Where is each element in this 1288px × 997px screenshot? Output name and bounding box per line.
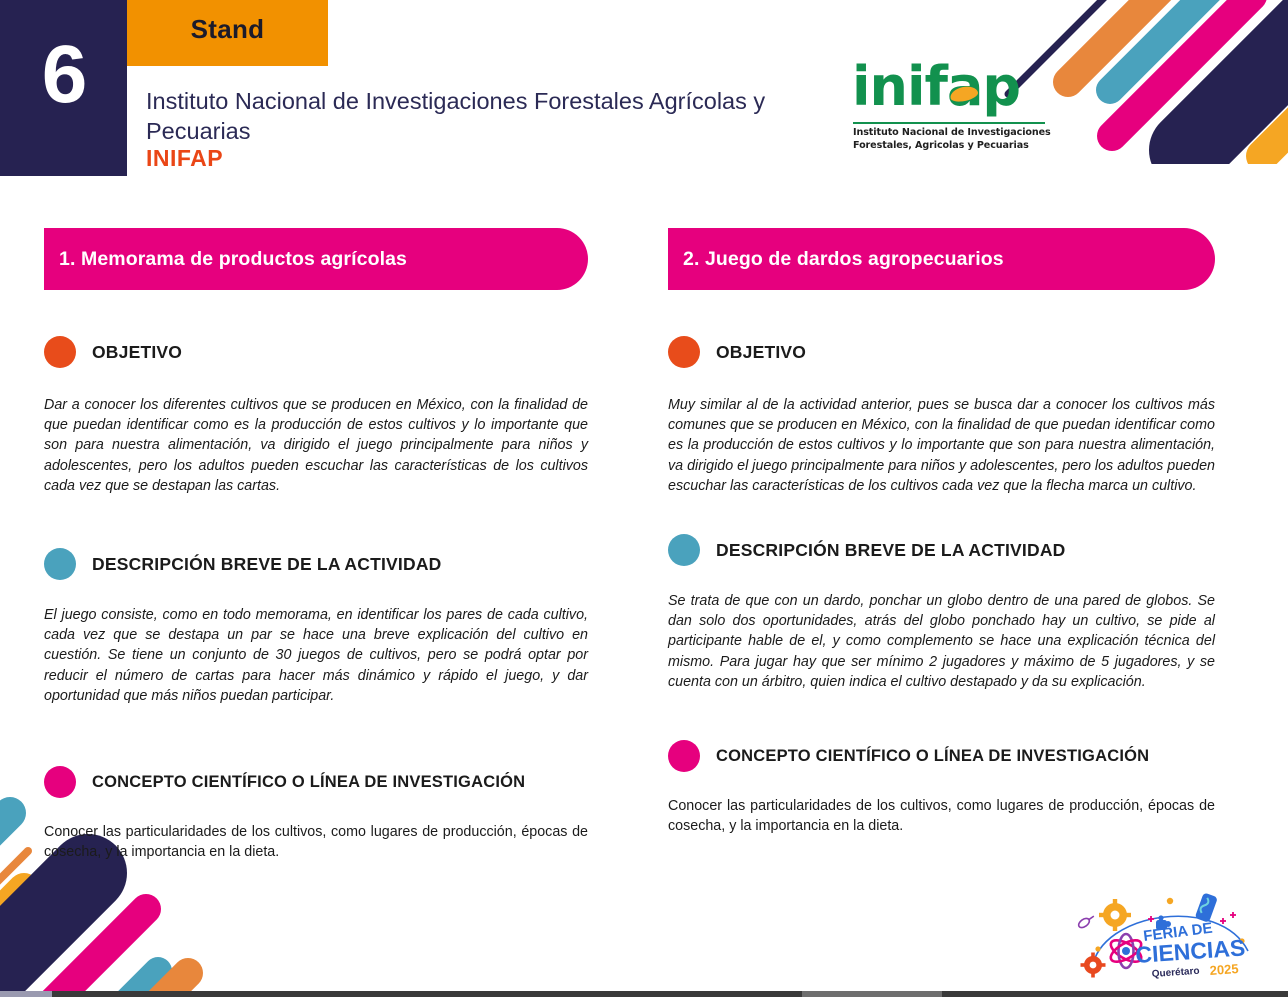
section-concepto-2: CONCEPTO CIENTÍFICO O LÍNEA DE INVESTIGA… xyxy=(668,740,1215,836)
objetivo-dot-icon xyxy=(44,336,76,368)
section-objetivo-1: OBJETIVO Dar a conocer los diferentes cu… xyxy=(44,336,588,496)
concepto-text-1: Conocer las particularidades de los cult… xyxy=(44,822,588,862)
feria-line3: Querétaro xyxy=(1151,966,1199,980)
descripcion-dot-icon xyxy=(668,534,700,566)
section-objetivo-2: OBJETIVO Muy similar al de la actividad … xyxy=(668,336,1215,496)
objetivo-text-2: Muy similar al de la actividad anterior,… xyxy=(668,395,1215,496)
page-title: Instituto Nacional de Investigaciones Fo… xyxy=(146,86,766,146)
poster-page: 6 Stand Instituto Nacional de Investigac… xyxy=(0,0,1288,997)
activity-column-2: 2. Juego de dardos agropecuarios OBJETIV… xyxy=(624,228,1248,862)
activity-heading-1: 1. Memorama de productos agrícolas xyxy=(44,228,588,290)
activity-heading-2: 2. Juego de dardos agropecuarios xyxy=(668,228,1215,290)
section-title-objetivo: OBJETIVO xyxy=(716,342,806,363)
section-descripcion-2: DESCRIPCIÓN BREVE DE LA ACTIVIDAD Se tra… xyxy=(668,534,1215,692)
bottom-bar xyxy=(0,991,1288,997)
feria-de-ciencias-logo: FERIA DE CIENCIAS Querétaro 2025 xyxy=(1070,893,1270,989)
activities-container: 1. Memorama de productos agrícolas OBJET… xyxy=(0,228,1288,862)
section-title-descripcion: DESCRIPCIÓN BREVE DE LA ACTIVIDAD xyxy=(716,540,1066,561)
section-concepto-1: CONCEPTO CIENTÍFICO O LÍNEA DE INVESTIGA… xyxy=(44,766,588,862)
inifap-logo: inifap Instituto Nacional de Investigaci… xyxy=(852,58,1052,158)
logo-divider xyxy=(853,122,1045,124)
descripcion-text-2: Se trata de que con un dardo, ponchar un… xyxy=(668,591,1215,692)
stand-label: Stand xyxy=(127,14,328,45)
concepto-text-2: Conocer las particularidades de los cult… xyxy=(668,796,1215,836)
descripcion-text-1: El juego consiste, como en todo memorama… xyxy=(44,605,588,706)
stand-number: 6 xyxy=(0,34,127,116)
inifap-wordmark: inifap xyxy=(852,58,1052,116)
descripcion-dot-icon xyxy=(44,548,76,580)
concepto-dot-icon xyxy=(668,740,700,772)
section-title-descripcion: DESCRIPCIÓN BREVE DE LA ACTIVIDAD xyxy=(92,554,442,575)
section-descripcion-1: DESCRIPCIÓN BREVE DE LA ACTIVIDAD El jue… xyxy=(44,548,588,706)
feria-year: 2025 xyxy=(1209,961,1239,978)
section-title-concepto: CONCEPTO CIENTÍFICO O LÍNEA DE INVESTIGA… xyxy=(716,747,1149,766)
section-title-objetivo: OBJETIVO xyxy=(92,342,182,363)
concepto-dot-icon xyxy=(44,766,76,798)
org-acronym: INIFAP xyxy=(146,145,223,172)
objetivo-text-1: Dar a conocer los diferentes cultivos qu… xyxy=(44,395,588,496)
objetivo-dot-icon xyxy=(668,336,700,368)
activity-column-1: 1. Memorama de productos agrícolas OBJET… xyxy=(0,228,624,862)
section-title-concepto: CONCEPTO CIENTÍFICO O LÍNEA DE INVESTIGA… xyxy=(92,773,525,792)
inifap-logo-subtitle: Instituto Nacional de Investigaciones Fo… xyxy=(853,127,1051,152)
